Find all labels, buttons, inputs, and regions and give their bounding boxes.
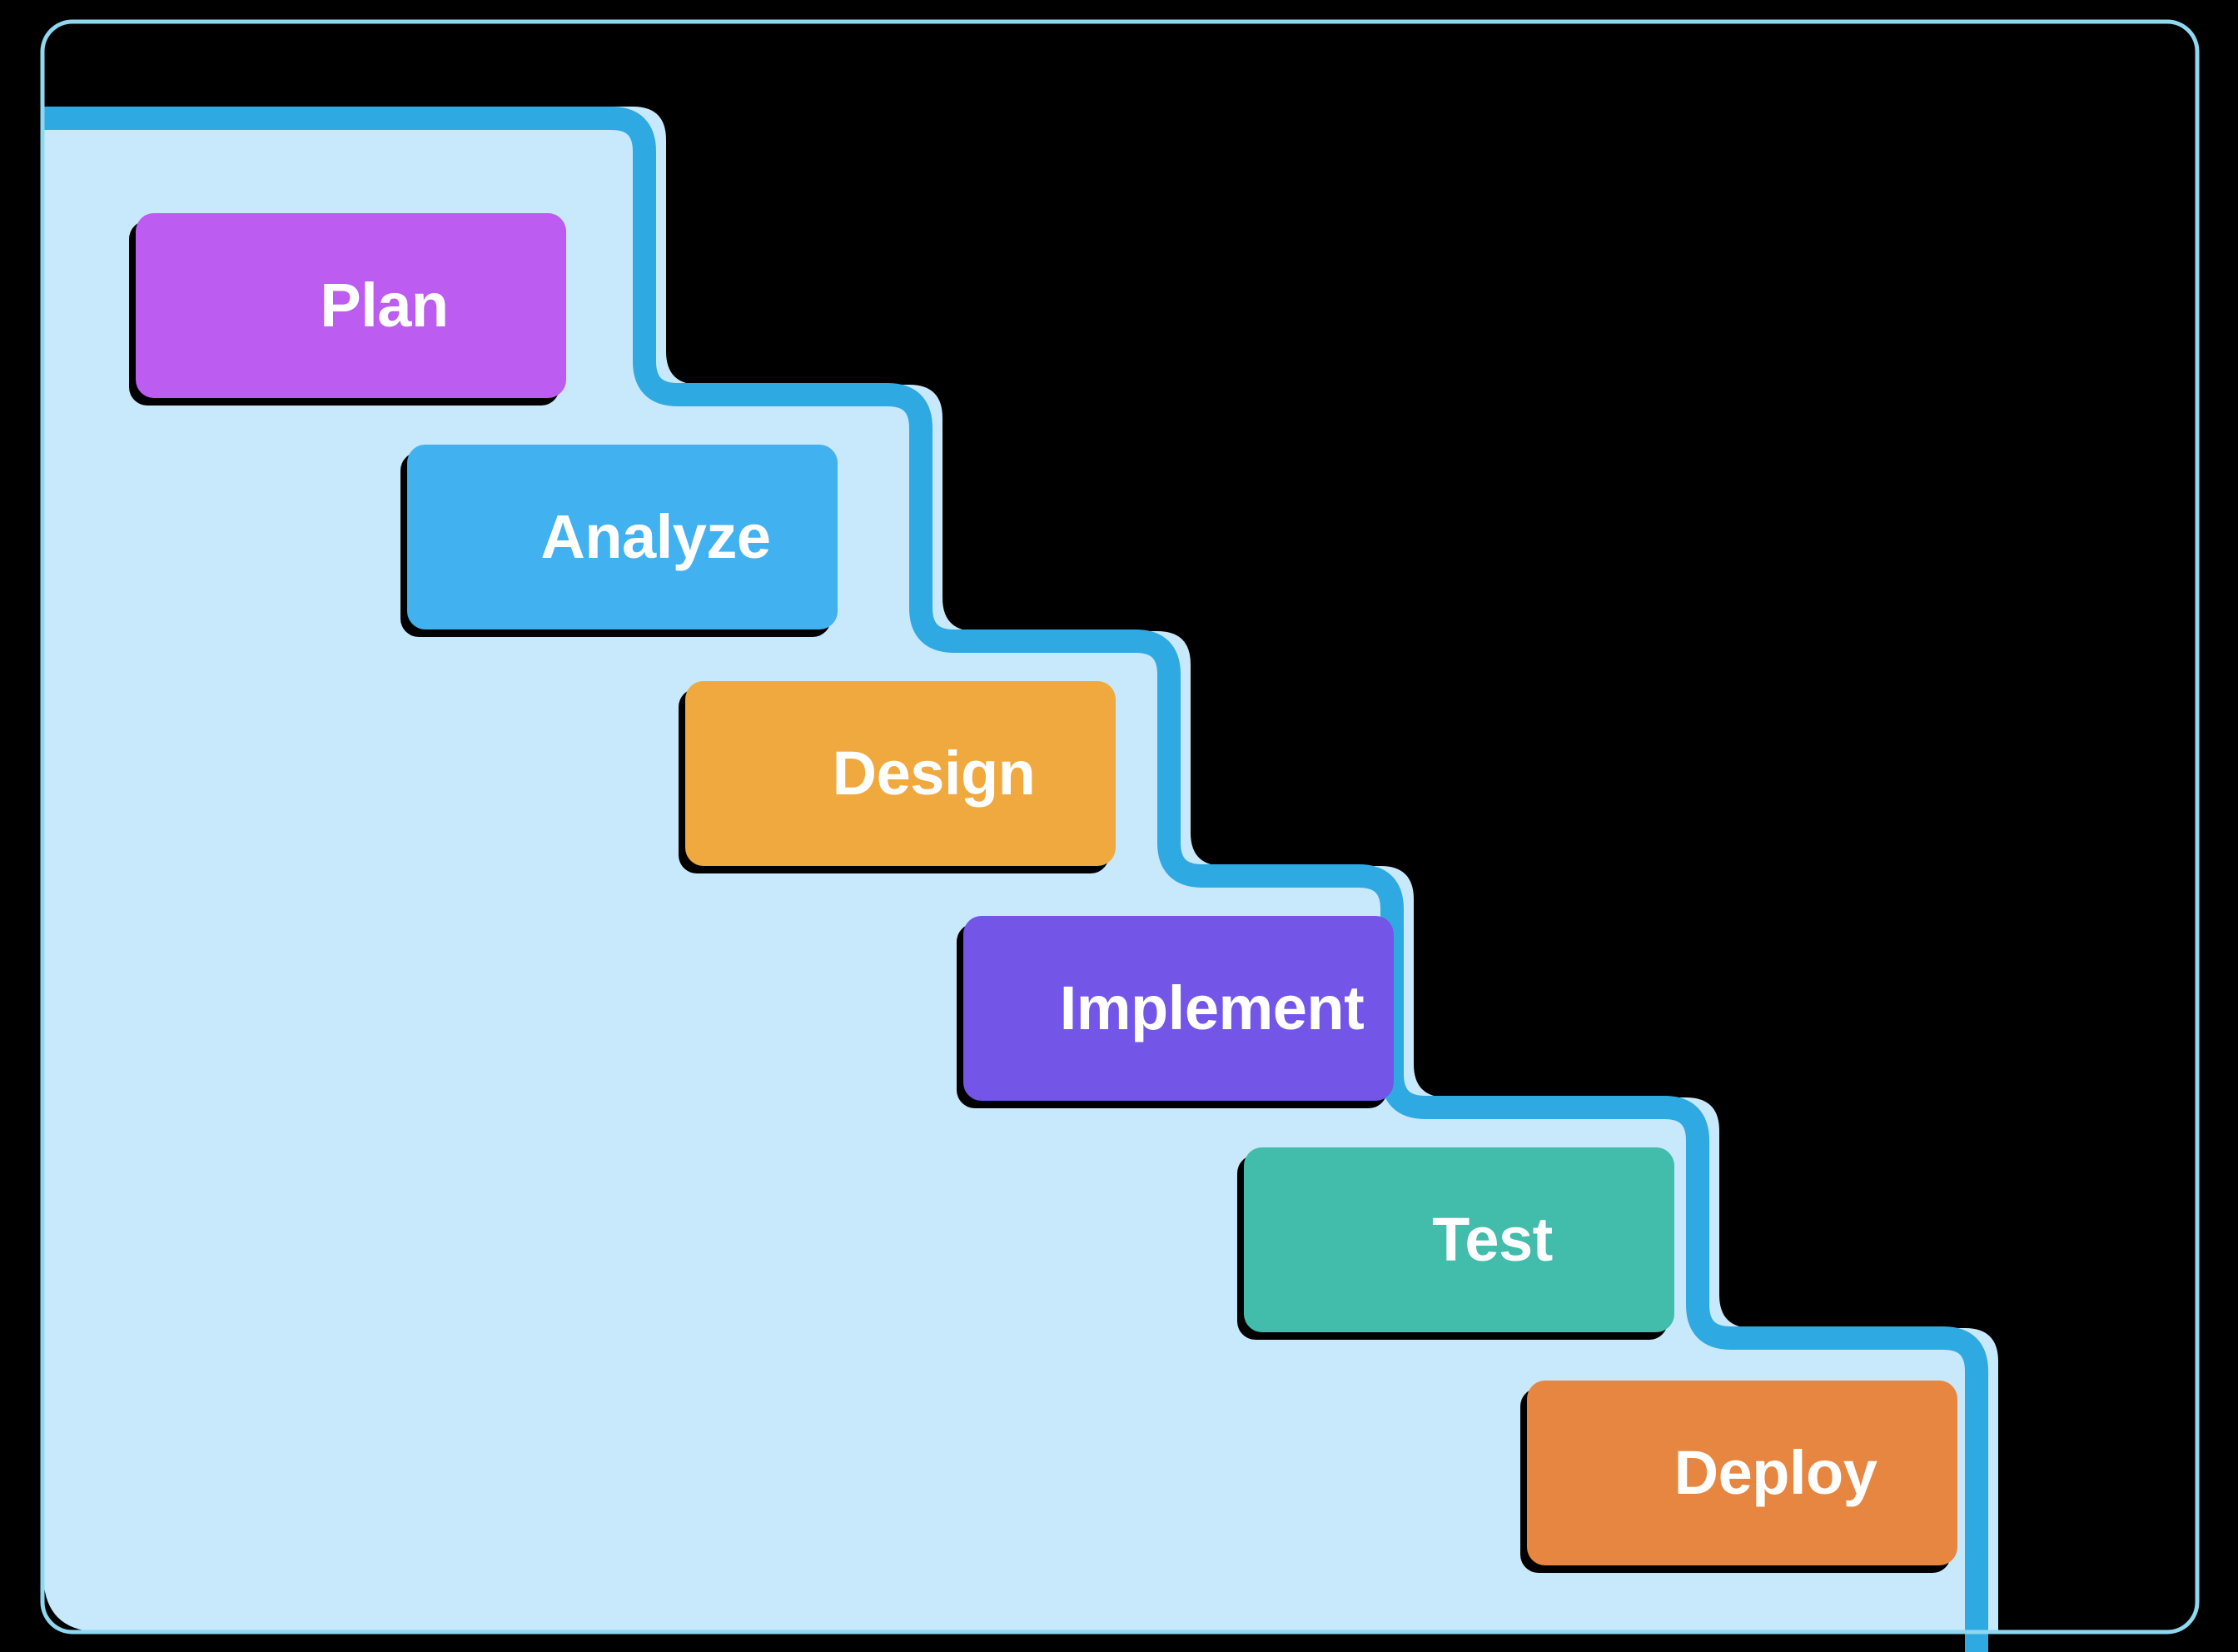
- stage-box-analyze[interactable]: Analyze: [407, 445, 838, 629]
- stage-label-implement: Implement: [993, 978, 1365, 1039]
- stage-label-deploy: Deploy: [1608, 1442, 1877, 1504]
- stage-box-test[interactable]: Test: [1244, 1147, 1674, 1332]
- stage-label-test: Test: [1365, 1209, 1553, 1271]
- stage-box-deploy[interactable]: Deploy: [1527, 1381, 1957, 1565]
- stage-label-plan: Plan: [253, 275, 448, 336]
- stage-label-analyze: Analyze: [474, 506, 770, 568]
- stage-label-design: Design: [766, 743, 1036, 804]
- stage-box-plan[interactable]: Plan: [136, 213, 566, 398]
- diagram-canvas: Plan Analyze Design Implement Test Deplo…: [0, 0, 2238, 1652]
- stage-box-design[interactable]: Design: [685, 681, 1116, 866]
- stage-box-implement[interactable]: Implement: [963, 916, 1394, 1101]
